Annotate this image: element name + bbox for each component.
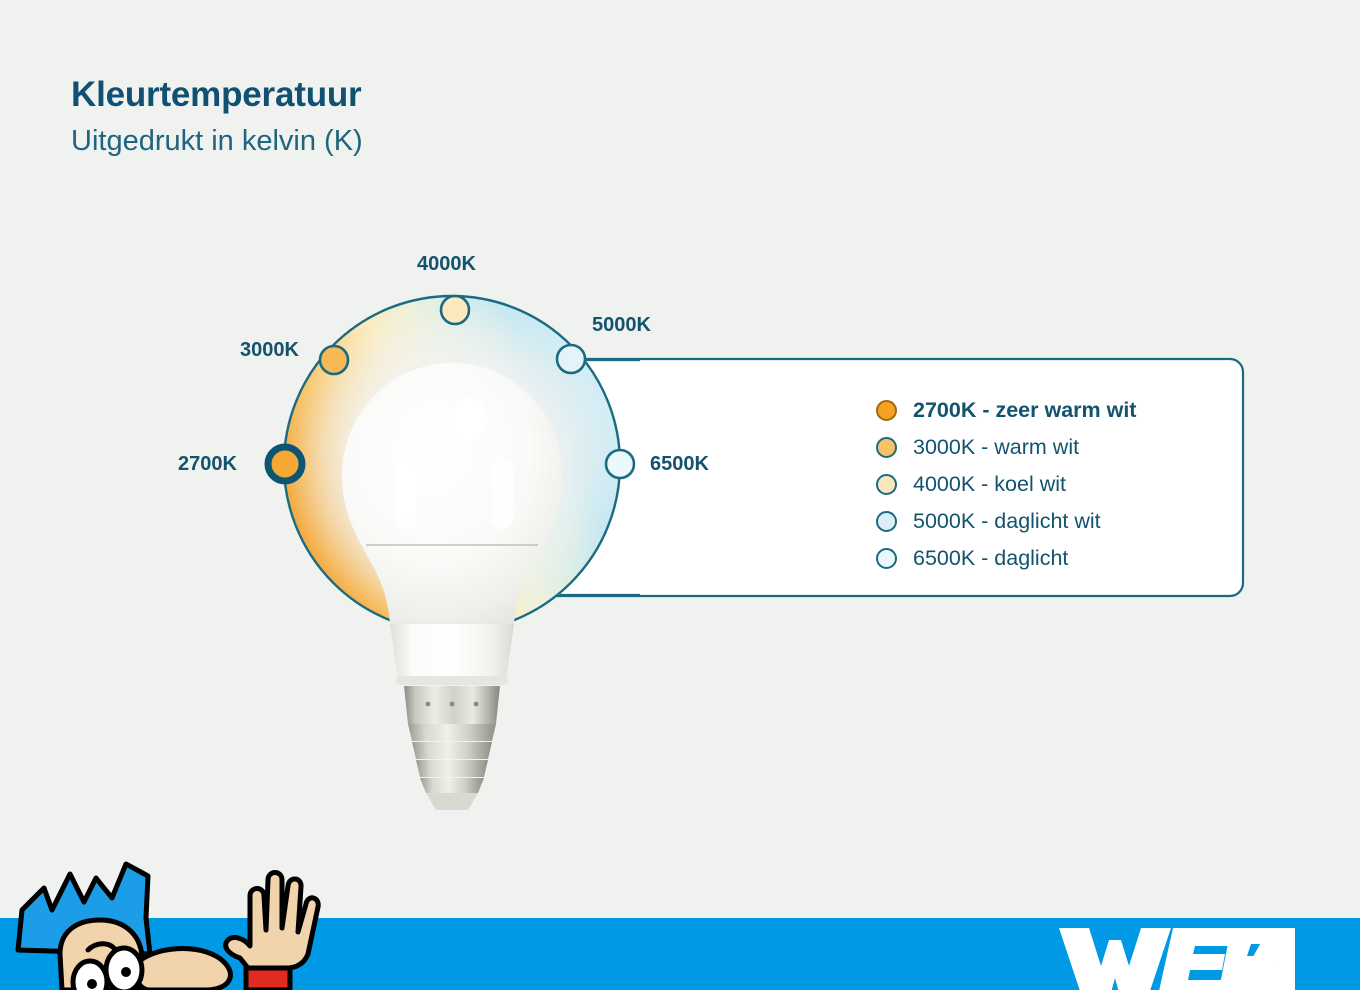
legend-dot-2700k <box>876 400 897 421</box>
legend-label-4000k: 4000K - koel wit <box>913 472 1066 497</box>
legend-label-6500k: 6500K - daglicht <box>913 546 1068 571</box>
wheel-label-4000k: 4000K <box>417 253 476 276</box>
wheel-label-6500k: 6500K <box>650 453 709 476</box>
weba-logo-svg <box>1055 922 1295 990</box>
legend-item-3000k[interactable]: 3000K - warm wit <box>876 429 1236 466</box>
marker-3000k[interactable] <box>320 346 348 374</box>
legend-item-6500k[interactable]: 6500K - daglicht <box>876 540 1236 577</box>
weba-logo-wordmark <box>1059 928 1295 990</box>
bulb-highlight-top <box>453 397 487 441</box>
bulb-highlight-right <box>492 457 513 529</box>
mascot-hand <box>226 873 319 969</box>
mascot-nose <box>136 949 231 990</box>
color-temperature-diagram: 4000K 3000K 2700K 5000K 6500K 2700K - ze… <box>0 0 1360 918</box>
cap-dimple-left <box>426 702 431 707</box>
legend-item-2700k[interactable]: 2700K - zeer warm wit <box>876 392 1236 429</box>
marker-4000k[interactable] <box>441 296 469 324</box>
legend-dot-3000k <box>876 437 897 458</box>
weba-mascot <box>0 858 340 990</box>
legend-dot-5000k <box>876 511 897 532</box>
marker-2700k-active[interactable] <box>268 447 302 481</box>
cap-dimple-right <box>474 702 479 707</box>
cap-dimple-center <box>450 702 455 707</box>
marker-6500k[interactable] <box>606 450 634 478</box>
marker-5000k[interactable] <box>557 345 585 373</box>
wheel-label-5000k: 5000K <box>592 314 651 337</box>
legend-list: 2700K - zeer warm wit 3000K - warm wit 4… <box>876 392 1236 577</box>
wheel-label-3000k: 3000K <box>240 339 299 362</box>
infographic-canvas: Kleurtemperatuur Uitgedrukt in kelvin (K… <box>0 0 1360 990</box>
legend-item-5000k[interactable]: 5000K - daglicht wit <box>876 503 1236 540</box>
legend-label-3000k: 3000K - warm wit <box>913 435 1079 460</box>
wheel-label-2700k: 2700K <box>178 453 237 476</box>
bulb-tip-contact <box>426 793 478 810</box>
legend-dot-4000k <box>876 474 897 495</box>
bulb-neck <box>390 624 514 680</box>
mascot-svg <box>0 858 340 990</box>
legend-label-2700k: 2700K - zeer warm wit <box>913 398 1136 423</box>
legend-label-5000k: 5000K - daglicht wit <box>913 509 1101 534</box>
legend-item-4000k[interactable]: 4000K - koel wit <box>876 466 1236 503</box>
legend-dot-6500k <box>876 548 897 569</box>
weba-logo <box>1055 922 1295 990</box>
bulb-neck-collar <box>396 676 508 685</box>
bulb-highlight-left <box>395 457 416 529</box>
bulb-screw-threads <box>408 724 496 793</box>
